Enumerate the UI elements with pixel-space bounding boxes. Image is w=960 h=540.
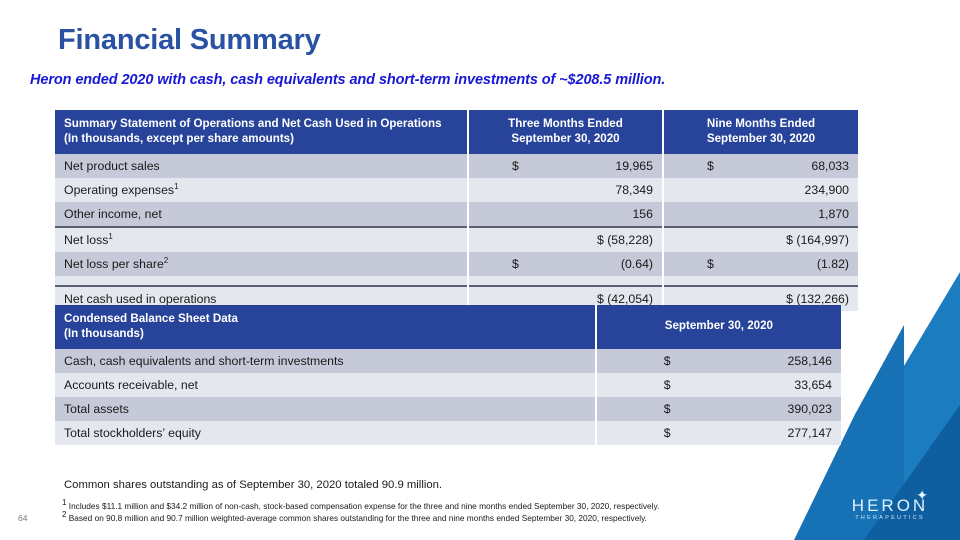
footnote-1-text: Includes $11.1 million and $34.2 million…	[69, 501, 660, 511]
row-label: Cash, cash equivalents and short-term in…	[55, 349, 596, 373]
currency-symbol: $	[606, 378, 671, 392]
spacer-cell	[663, 276, 858, 286]
cell-value: 258,146	[788, 354, 832, 368]
cell-nine-months: $68,033	[663, 154, 858, 178]
cell-nine-months: 1,870	[663, 202, 858, 227]
cell-value: 390,023	[788, 402, 832, 416]
common-shares-note: Common shares outstanding as of Septembe…	[64, 479, 442, 491]
table-row: Cash, cash equivalents and short-term in…	[55, 349, 841, 373]
footnote-2-text: Based on 90.8 million and 90.7 million w…	[69, 513, 647, 523]
slide-number: 64	[18, 513, 27, 523]
cell-value: $ (42,054)	[597, 292, 653, 306]
bs-header-label-line1: Condensed Balance Sheet Data	[64, 312, 586, 327]
row-label: Net loss per share2	[55, 252, 468, 276]
table-header-row: Condensed Balance Sheet Data (In thousan…	[55, 305, 841, 349]
bs-header-label-line2: (In thousands)	[64, 327, 586, 342]
row-label: Net loss1	[55, 227, 468, 252]
table-row: Net loss per share2$(0.64)$(1.82)	[55, 252, 858, 276]
cell-value: 78,349	[615, 183, 653, 197]
row-label-text: Net product sales	[64, 159, 160, 173]
footnotes: 1 Includes $11.1 million and $34.2 milli…	[62, 500, 659, 524]
table-spacer-row	[55, 276, 858, 286]
cell-value: (1.82)	[817, 257, 849, 271]
currency-symbol: $	[673, 257, 714, 271]
cell-nine-months: $ (164,997)	[663, 227, 858, 252]
cell-three-months: $(0.64)	[468, 252, 663, 276]
ops-header-label-line2: (In thousands, except per share amounts)	[64, 132, 458, 147]
cell-value: $ (164,997)	[786, 233, 849, 247]
bs-header-date: September 30, 2020	[596, 305, 841, 349]
currency-symbol: $	[478, 159, 519, 173]
row-label-text: Operating expenses	[64, 183, 174, 197]
cell-value: $ (58,228)	[597, 233, 653, 247]
ops-header-col2-line2: September 30, 2020	[478, 132, 653, 147]
row-label: Operating expenses1	[55, 178, 468, 202]
page-title: Financial Summary	[58, 24, 321, 57]
spacer-cell	[468, 276, 663, 286]
table-row: Net loss1$ (58,228)$ (164,997)	[55, 227, 858, 252]
ops-header-col3-line1: Nine Months Ended	[673, 117, 849, 132]
footnote-2: 2 Based on 90.8 million and 90.7 million…	[62, 512, 659, 524]
row-label-text: Net loss per share	[64, 257, 164, 271]
cell-three-months: $ (58,228)	[468, 227, 663, 252]
cell-value: 33,654	[794, 378, 832, 392]
row-label-footnote-marker: 1	[174, 182, 178, 191]
cell-three-months: 78,349	[468, 178, 663, 202]
cell-nine-months: $(1.82)	[663, 252, 858, 276]
cell-value-date: $33,654	[596, 373, 841, 397]
cell-value: 277,147	[788, 426, 832, 440]
currency-symbol: $	[606, 402, 671, 416]
table-row: Other income, net1561,870	[55, 202, 858, 227]
cell-value-date: $277,147	[596, 421, 841, 445]
row-label: Other income, net	[55, 202, 468, 227]
ops-header-col3-line2: September 30, 2020	[673, 132, 849, 147]
cell-value: $ (132,266)	[786, 292, 849, 306]
currency-symbol: $	[673, 159, 714, 173]
table-row: Total assets$390,023	[55, 397, 841, 421]
table-row: Accounts receivable, net$33,654	[55, 373, 841, 397]
table-row: Net product sales$19,965$68,033	[55, 154, 858, 178]
cell-value: 19,965	[615, 159, 653, 173]
row-label: Total assets	[55, 397, 596, 421]
operations-summary-table: Summary Statement of Operations and Net …	[55, 110, 858, 311]
row-label-footnote-marker: 1	[108, 232, 112, 241]
ops-header-label-line1: Summary Statement of Operations and Net …	[64, 117, 458, 132]
ops-header-nine-months: Nine Months Ended September 30, 2020	[663, 110, 858, 154]
table-row: Total stockholders’ equity$277,147	[55, 421, 841, 445]
balance-sheet-table: Condensed Balance Sheet Data (In thousan…	[55, 305, 841, 445]
row-label-text: Other income, net	[64, 207, 162, 221]
ops-header-three-months: Three Months Ended September 30, 2020	[468, 110, 663, 154]
footnote-2-marker: 2	[62, 510, 66, 519]
cell-nine-months: 234,900	[663, 178, 858, 202]
cell-value: 1,870	[818, 207, 849, 221]
currency-symbol: $	[606, 426, 671, 440]
cell-value: 234,900	[805, 183, 849, 197]
cell-three-months: $19,965	[468, 154, 663, 178]
currency-symbol: $	[478, 257, 519, 271]
bs-header-label: Condensed Balance Sheet Data (In thousan…	[55, 305, 596, 349]
cell-value: 68,033	[811, 159, 849, 173]
ops-header-col2-line1: Three Months Ended	[478, 117, 653, 132]
row-label: Accounts receivable, net	[55, 373, 596, 397]
slide-subtitle: Heron ended 2020 with cash, cash equival…	[30, 72, 665, 88]
spacer-cell	[55, 276, 468, 286]
cell-three-months: 156	[468, 202, 663, 227]
cell-value: 156	[632, 207, 653, 221]
row-label-footnote-marker: 2	[164, 256, 168, 265]
footnote-1: 1 Includes $11.1 million and $34.2 milli…	[62, 500, 659, 512]
row-label-text: Net loss	[64, 233, 108, 247]
currency-symbol: $	[606, 354, 671, 368]
row-label-text: Net cash used in operations	[64, 292, 216, 306]
cell-value-date: $390,023	[596, 397, 841, 421]
footnote-1-marker: 1	[62, 498, 66, 507]
row-label: Total stockholders’ equity	[55, 421, 596, 445]
ops-header-label: Summary Statement of Operations and Net …	[55, 110, 468, 154]
table-row: Operating expenses178,349234,900	[55, 178, 858, 202]
row-label: Net product sales	[55, 154, 468, 178]
cell-value: (0.64)	[621, 257, 653, 271]
table-header-row: Summary Statement of Operations and Net …	[55, 110, 858, 154]
cell-value-date: $258,146	[596, 349, 841, 373]
slide-canvas: ✦ HERON THERAPEUTICS Financial Summary H…	[0, 0, 960, 540]
